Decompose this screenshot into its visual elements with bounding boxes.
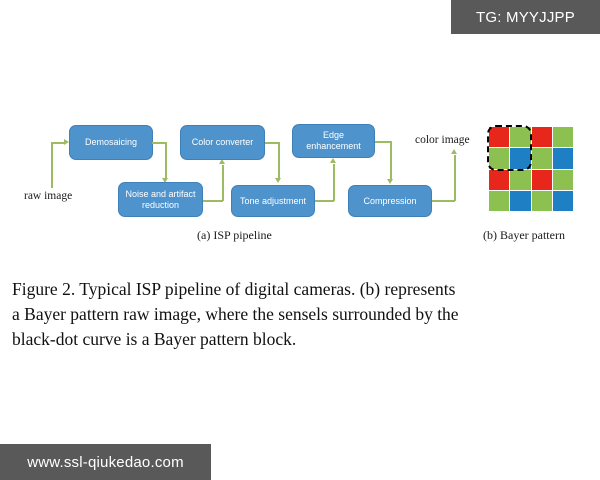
caption-line-3: black-dot curve is a Bayer pattern block… xyxy=(12,327,588,352)
node-edge-enhancement-label: Edge enhancement xyxy=(297,130,370,152)
connector-color-converter-out xyxy=(265,142,279,144)
raw-image-label: raw image xyxy=(24,190,72,202)
subcaption-a: (a) ISP pipeline xyxy=(197,228,272,243)
node-demosaicing[interactable]: Demosaicing xyxy=(69,125,153,160)
arrowhead-into-color-image xyxy=(451,149,457,154)
connector-edge-out xyxy=(375,141,391,143)
connector-raw-riser xyxy=(51,143,53,188)
connector-noise-out xyxy=(203,200,223,202)
bayer-cell-r2c3 xyxy=(532,148,552,168)
bayer-cell-r1c3 xyxy=(532,127,552,147)
bayer-cell-r3c3 xyxy=(532,170,552,190)
bayer-block-selection-outline xyxy=(487,125,532,171)
node-compression[interactable]: Compression xyxy=(348,185,432,217)
watermark-bottom-left: www.ssl-qiukedao.com xyxy=(0,444,211,480)
arrowhead-into-edge-enhancement xyxy=(330,158,336,163)
caption-line-1: Figure 2. Typical ISP pipeline of digita… xyxy=(12,277,588,302)
connector-compression-out xyxy=(432,200,455,202)
connector-raw-run xyxy=(51,142,65,144)
bayer-cell-r3c4 xyxy=(553,170,573,190)
connector-demosaicing-drop xyxy=(165,142,167,180)
bayer-cell-r4c4 xyxy=(553,191,573,211)
connector-tone-out xyxy=(315,200,334,202)
arrowhead-into-tone-adjustment xyxy=(275,178,281,183)
caption-line-2: a Bayer pattern raw image, where the sen… xyxy=(12,302,588,327)
bayer-cell-r4c1 xyxy=(489,191,509,211)
arrowhead-into-compression xyxy=(387,179,393,184)
node-color-converter[interactable]: Color converter xyxy=(180,125,265,160)
bayer-cell-r1c4 xyxy=(553,127,573,147)
node-noise-and-artifact-reduction-label: Noise and artifact reduction xyxy=(123,189,198,211)
bayer-cell-r3c2 xyxy=(510,170,530,190)
node-demosaicing-label: Demosaicing xyxy=(85,137,137,148)
node-tone-adjustment-label: Tone adjustment xyxy=(240,196,306,207)
figure-illustration: raw image Demosaicing Noise and artifact… xyxy=(0,0,600,480)
node-tone-adjustment[interactable]: Tone adjustment xyxy=(231,185,315,217)
watermark-top-right: TG: MYYJJPP xyxy=(451,0,600,34)
node-color-converter-label: Color converter xyxy=(192,137,254,148)
bayer-cell-r3c1 xyxy=(489,170,509,190)
node-edge-enhancement[interactable]: Edge enhancement xyxy=(292,124,375,158)
figure-page: raw image Demosaicing Noise and artifact… xyxy=(0,0,600,480)
bayer-cell-r4c3 xyxy=(532,191,552,211)
subcaption-b: (b) Bayer pattern xyxy=(483,228,565,243)
connector-tone-riser xyxy=(333,164,335,201)
connector-edge-drop xyxy=(390,141,392,181)
bayer-cell-r2c4 xyxy=(553,148,573,168)
node-compression-label: Compression xyxy=(363,196,416,207)
connector-output-riser xyxy=(454,155,456,201)
color-image-label: color image xyxy=(415,134,470,146)
figure-caption: Figure 2. Typical ISP pipeline of digita… xyxy=(12,277,588,352)
node-noise-and-artifact-reduction[interactable]: Noise and artifact reduction xyxy=(118,182,203,217)
bayer-cell-r4c2 xyxy=(510,191,530,211)
connector-color-converter-drop xyxy=(278,142,280,180)
connector-noise-riser xyxy=(222,165,224,201)
connector-demosaicing-out xyxy=(152,142,166,144)
